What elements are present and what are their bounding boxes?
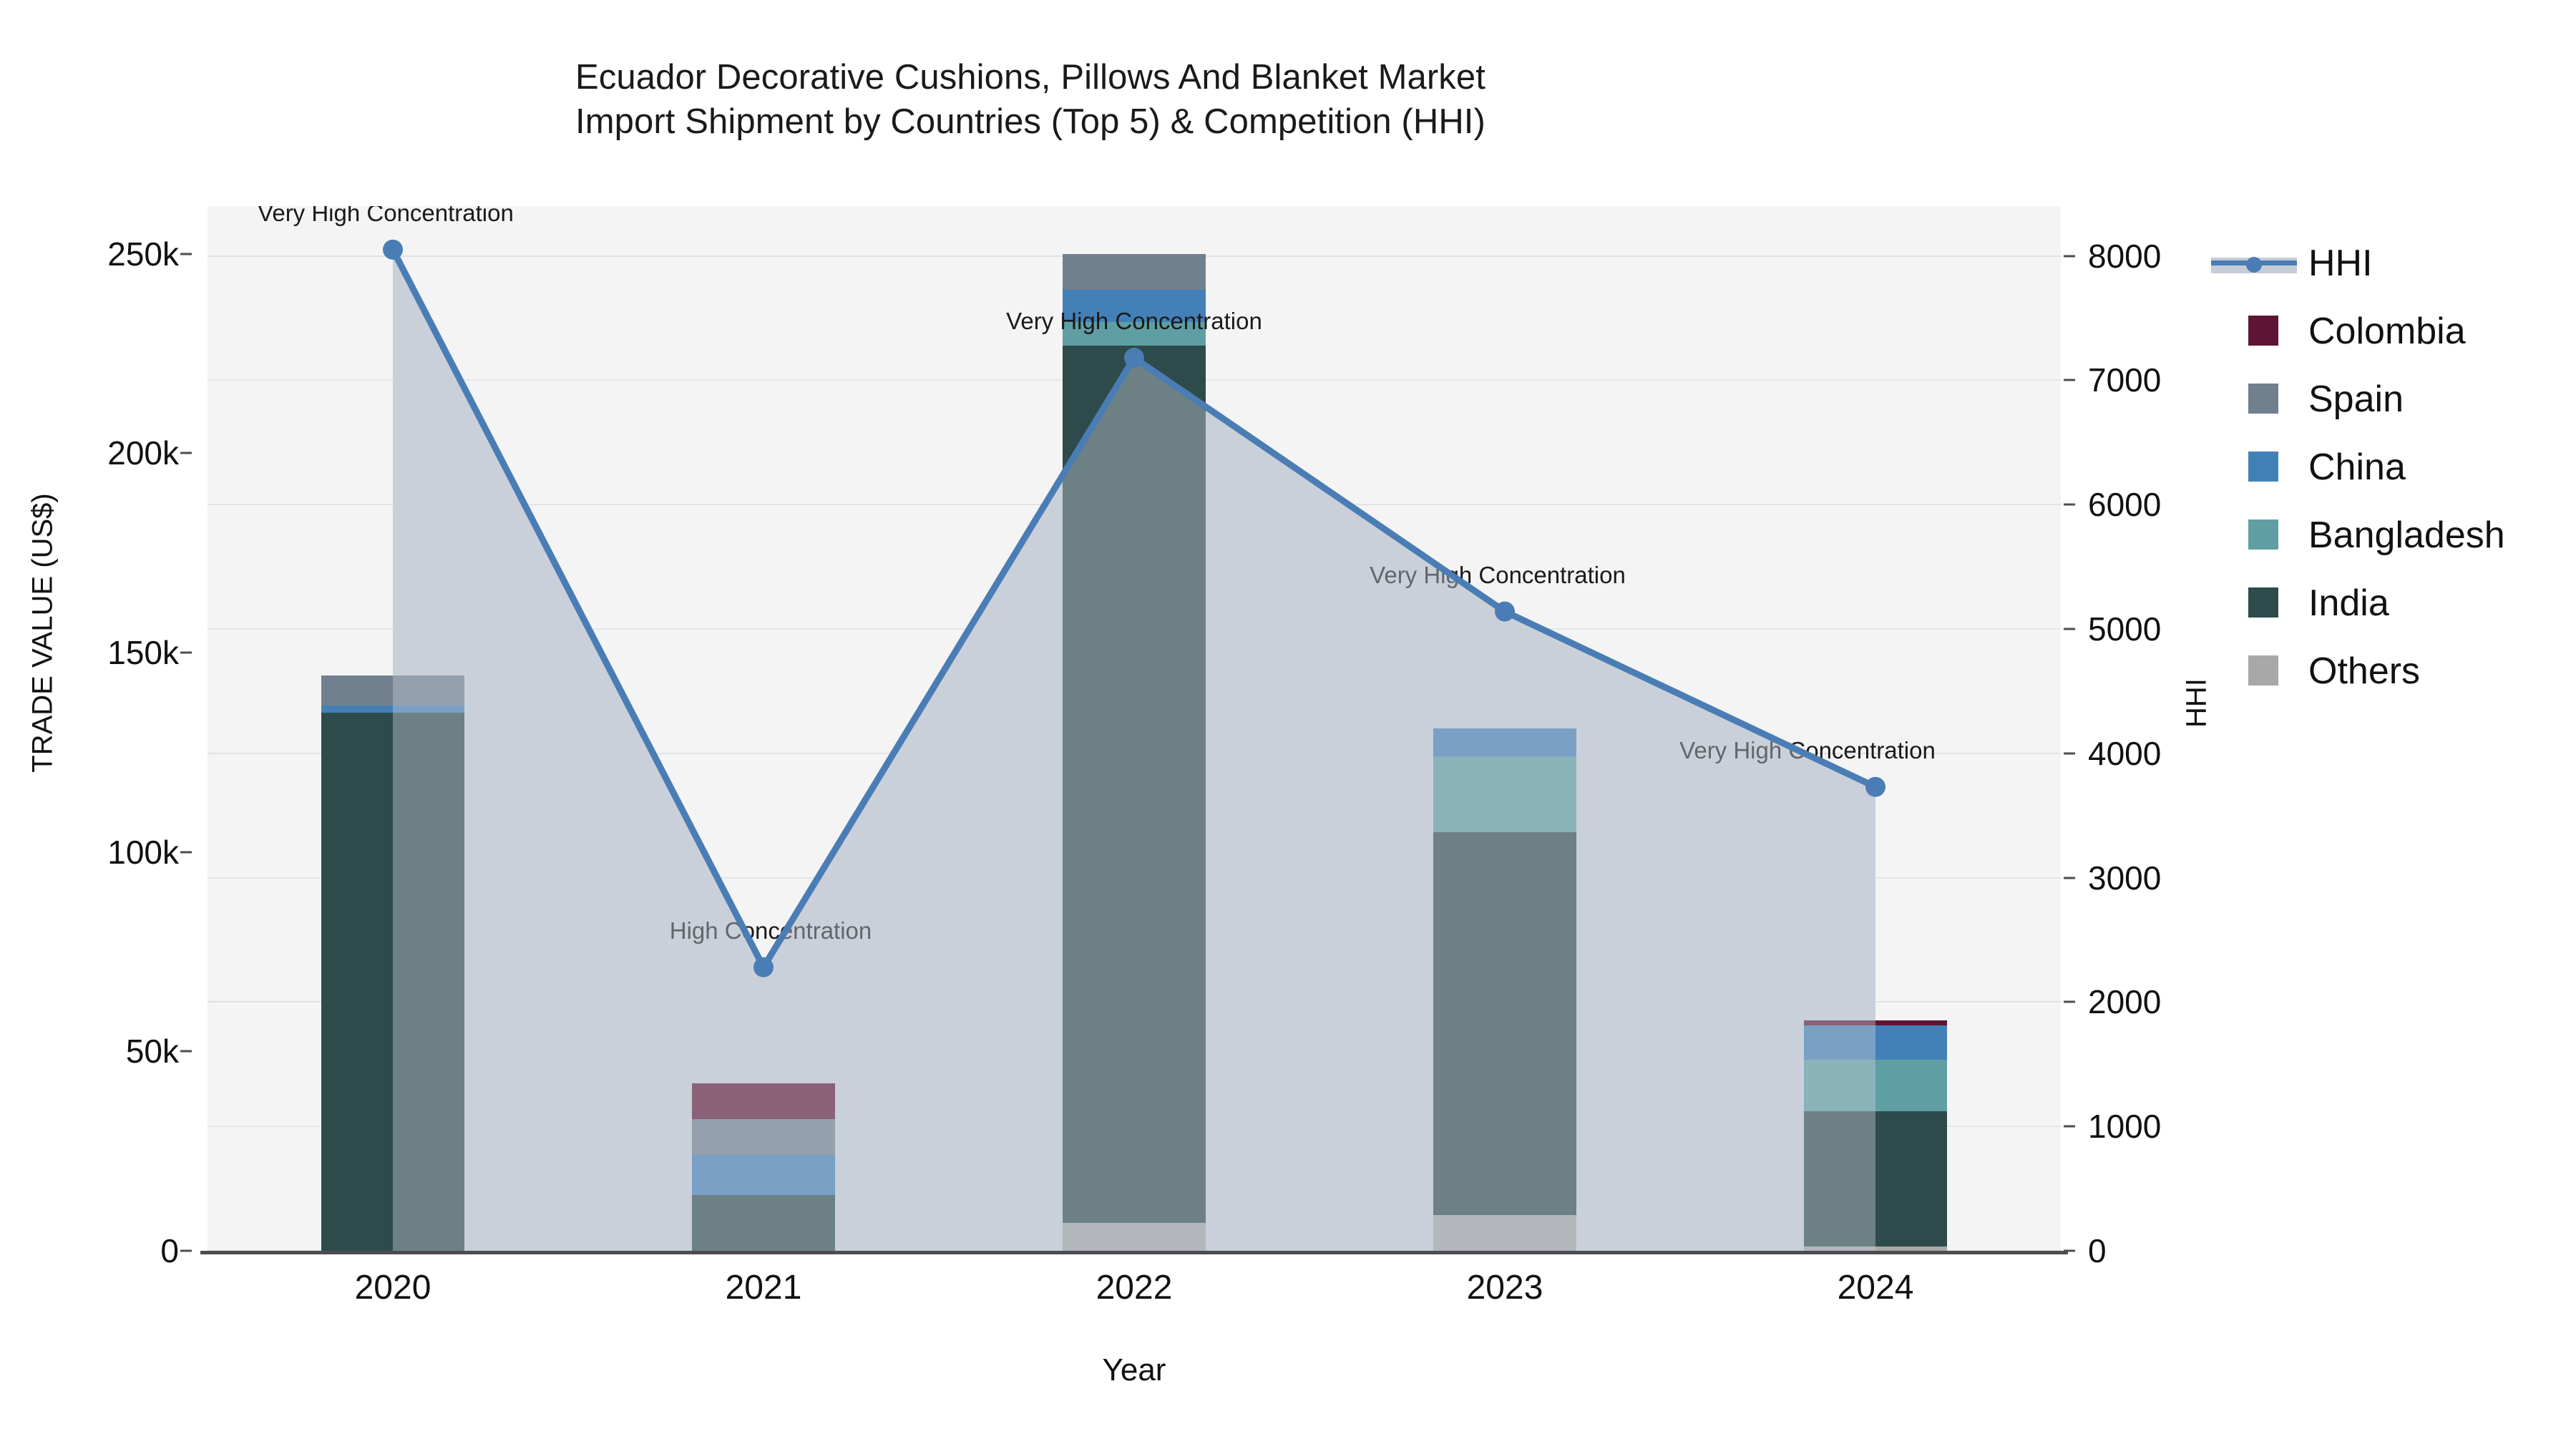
bar-segment-spain[interactable] [321, 675, 464, 706]
y-tick-mark-right [2064, 1001, 2075, 1003]
bar-segment-india[interactable] [321, 713, 464, 1251]
bar-series-layer [208, 206, 2061, 1251]
y-tick-mark-left [180, 851, 192, 853]
bar-segment-india[interactable] [1063, 346, 1206, 1223]
chart-title-line-2: Import Shipment by Countries (Top 5) & C… [0, 100, 2061, 145]
y-axis-left-title: TRADE VALUE (US$) [27, 376, 59, 891]
y-tick-right: 2000 [2088, 982, 2161, 1021]
legend-label-colombia: Colombia [2308, 310, 2466, 353]
y-tick-left: 100k [107, 833, 179, 872]
legend-label-bangladesh: Bangladesh [2308, 514, 2505, 557]
y-tick-mark-right [2064, 255, 2075, 257]
hhi-annotation-2021: High Concentration [670, 917, 872, 945]
legend-swatch-colombia [2248, 316, 2278, 346]
legend-item-spain[interactable]: Spain [2211, 365, 2569, 433]
x-tick-2021: 2021 [726, 1268, 802, 1307]
bar-segment-colombia[interactable] [1804, 1020, 1947, 1025]
bar-segment-china[interactable] [321, 706, 464, 713]
y-tick-mark-left [180, 1250, 192, 1252]
y-tick-left: 0 [160, 1231, 179, 1270]
y-tick-right: 1000 [2088, 1107, 2161, 1146]
x-tick-2023: 2023 [1467, 1268, 1543, 1307]
legend-item-china[interactable]: China [2211, 433, 2569, 501]
y-tick-mark-left [180, 652, 192, 654]
bar-segment-others[interactable] [1433, 1215, 1576, 1251]
legend-label-india: India [2308, 582, 2389, 625]
bar-segment-china[interactable] [1804, 1025, 1947, 1059]
y-tick-left: 250k [107, 235, 179, 273]
y-tick-left: 150k [107, 633, 179, 672]
bar-segment-spain[interactable] [692, 1119, 835, 1155]
x-axis-line [200, 1251, 2068, 1254]
y-tick-left: 200k [107, 434, 179, 472]
y-tick-right: 6000 [2088, 485, 2161, 524]
legend-label-spain: Spain [2308, 378, 2404, 421]
bar-segment-india[interactable] [1433, 832, 1576, 1215]
y-tick-mark-right [2064, 877, 2075, 879]
legend-swatch-bangladesh [2248, 519, 2278, 550]
bar-segment-bangladesh[interactable] [1433, 756, 1576, 832]
y-tick-mark-right [2064, 379, 2075, 381]
y-tick-mark-right [2064, 1126, 2075, 1128]
y-tick-mark-left [180, 452, 192, 454]
legend-swatch-india [2248, 587, 2278, 618]
legend: HHIColombiaSpainChinaBangladeshIndiaOthe… [2211, 229, 2569, 705]
x-axis-title: Year [208, 1352, 2061, 1388]
y-tick-mark-left [180, 1050, 192, 1053]
hhi-annotation-2020: Very High Concentration [258, 206, 514, 227]
legend-item-others[interactable]: Others [2211, 637, 2569, 705]
x-tick-2022: 2022 [1096, 1268, 1173, 1307]
y-tick-right: 8000 [2088, 237, 2161, 275]
bar-segment-spain[interactable] [1063, 254, 1206, 290]
chart-root: Ecuador Decorative Cushions, Pillows And… [0, 0, 2576, 1449]
bar-segment-china[interactable] [1433, 728, 1576, 756]
y-tick-right: 7000 [2088, 361, 2161, 399]
hhi-annotation-2023: Very High Concentration [1370, 562, 1626, 589]
y-tick-mark-left [180, 253, 192, 255]
bar-segment-bangladesh[interactable] [1804, 1060, 1947, 1111]
legend-item-india[interactable]: India [2211, 569, 2569, 637]
bar-segment-india[interactable] [1804, 1111, 1947, 1246]
legend-label-hhi: HHI [2308, 242, 2373, 285]
y-tick-mark-right [2064, 628, 2075, 630]
y-tick-left: 50k [126, 1032, 179, 1070]
bar-segment-china[interactable] [692, 1155, 835, 1195]
y-tick-mark-right [2064, 504, 2075, 506]
legend-item-bangladesh[interactable]: Bangladesh [2211, 501, 2569, 569]
y-tick-right: 3000 [2088, 859, 2161, 897]
hhi-annotation-2024: Very High Concentration [1679, 737, 1936, 764]
legend-label-china: China [2308, 446, 2406, 489]
legend-label-others: Others [2308, 650, 2420, 693]
legend-item-hhi[interactable]: HHI [2211, 229, 2569, 297]
legend-line-dot [2246, 257, 2262, 273]
chart-title: Ecuador Decorative Cushions, Pillows And… [0, 56, 2061, 144]
legend-swatch-china [2248, 452, 2278, 482]
plot-area: Very High ConcentrationHigh Concentratio… [208, 206, 2061, 1251]
legend-item-colombia[interactable]: Colombia [2211, 297, 2569, 365]
chart-title-line-1: Ecuador Decorative Cushions, Pillows And… [0, 56, 2061, 100]
y-tick-right: 5000 [2088, 610, 2161, 648]
hhi-annotation-2022: Very High Concentration [1006, 308, 1262, 335]
legend-line-marker [2211, 248, 2297, 278]
x-axis-labels: 20202021202220232024 [208, 1268, 2061, 1318]
legend-swatch-others [2248, 655, 2278, 686]
y-tick-mark-right [2064, 752, 2075, 754]
y-axis-right-title: HHI [2181, 582, 2213, 825]
y-tick-right: 4000 [2088, 734, 2161, 773]
x-tick-2024: 2024 [1838, 1268, 1914, 1307]
bar-segment-india[interactable] [692, 1195, 835, 1251]
legend-swatch-spain [2248, 384, 2278, 414]
bar-segment-others[interactable] [1063, 1223, 1206, 1251]
y-tick-right: 0 [2088, 1231, 2107, 1270]
x-tick-2020: 2020 [355, 1268, 431, 1307]
bar-segment-colombia[interactable] [692, 1083, 835, 1119]
